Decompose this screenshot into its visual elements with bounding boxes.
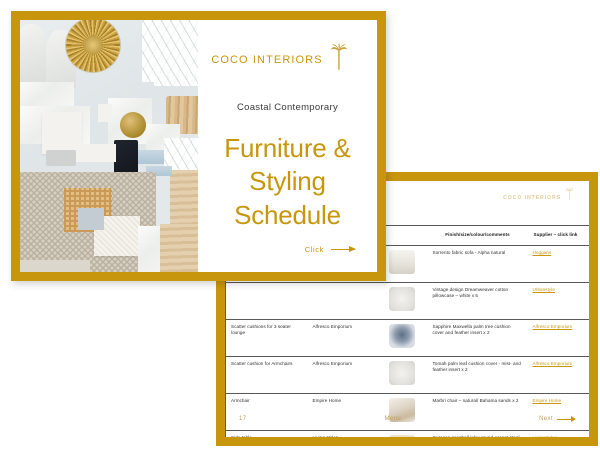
palm-tree-icon: [564, 187, 575, 202]
arrow-right-icon: [331, 249, 355, 250]
cell-finish: Sorrento fabric sofa - Alpha natural: [428, 245, 528, 282]
cell-finish: Curacao seashell inlay round accent stoo…: [428, 430, 528, 446]
cell-initial[interactable]: [584, 356, 599, 393]
title-line-2: Styling: [198, 165, 377, 198]
cell-item: Scatter cushions for 3 seater lounge: [226, 319, 308, 356]
cell-supplier: Alfresco Emporium: [308, 356, 376, 393]
supplier-link[interactable]: Hoggans: [533, 250, 552, 255]
cell-initial[interactable]: [584, 430, 599, 446]
page-number: 17: [239, 416, 246, 422]
cell-supplier: Living styles: [308, 430, 376, 446]
next-button[interactable]: Next: [539, 416, 575, 422]
moodboard-flatlay: [20, 20, 198, 272]
cell-image: [376, 319, 428, 356]
schedule-footer: 17 Menu Next: [225, 409, 589, 429]
cell-initial[interactable]: [584, 282, 599, 319]
cell-initial[interactable]: [584, 319, 599, 356]
blue-cushion-thumbnail: [389, 324, 415, 348]
palm-tree-icon: [328, 42, 350, 72]
cell-image: [376, 430, 428, 446]
cell-finish: Tomah palm leaf cushion cover - mist- an…: [428, 356, 528, 393]
click-button[interactable]: Click: [305, 245, 355, 254]
table-row[interactable]: Vintage design Dreamweaver cotton pillow…: [226, 282, 599, 319]
cell-finish: Sapphire Maxwella palm tree cushion cove…: [428, 319, 528, 356]
side-table-thumbnail: [389, 435, 415, 446]
column-header-supplier-link: Supplier – click link: [528, 226, 584, 246]
moodboard-image: [20, 20, 198, 272]
cover-text-panel: COCO INTERIORS Coastal Contemporary: [198, 20, 377, 272]
supplier-link[interactable]: Urbanstyle: [533, 287, 555, 292]
title-line-3: Schedule: [198, 199, 377, 232]
menu-button[interactable]: Menu: [246, 416, 539, 422]
cell-link[interactable]: Alfresco Emporium: [528, 356, 584, 393]
cell-item: [226, 282, 308, 319]
schedule-brand-logo: COCO INTERIORS: [503, 187, 575, 202]
page-title: Furniture & Styling Schedule: [198, 132, 377, 232]
pillowcase-thumbnail: [389, 287, 415, 311]
cell-image: [376, 356, 428, 393]
supplier-link[interactable]: Alfresco Emporium: [533, 361, 573, 366]
cover-brand-name: COCO INTERIORS: [211, 54, 322, 66]
cover-subtitle: Coastal Contemporary: [198, 102, 377, 113]
cell-supplier: Alfresco Emporium: [308, 319, 376, 356]
cell-link[interactable]: Livingstyles: [528, 430, 584, 446]
cell-supplier: [308, 282, 376, 319]
cell-item: Scatter cushion for Armchairs: [226, 356, 308, 393]
white-cushion-thumbnail: [389, 361, 415, 385]
next-label: Next: [539, 416, 553, 422]
supplier-link[interactable]: Alfresco Emporium: [533, 324, 573, 329]
title-line-1: Furniture &: [198, 132, 377, 165]
table-row[interactable]: Scatter cushion for Armchairs Alfresco E…: [226, 356, 599, 393]
cell-item: Side table: [226, 430, 308, 446]
slide-stage: COCO INTERIORS: [0, 0, 600, 452]
cell-image: [376, 282, 428, 319]
column-header-initial: Initial: [584, 226, 599, 246]
sofa-thumbnail: [389, 250, 415, 274]
cell-link[interactable]: Hoggans: [528, 245, 584, 282]
cover-brand-logo: COCO INTERIORS: [198, 42, 363, 72]
schedule-brand-name: COCO INTERIORS: [503, 195, 561, 201]
click-label: Click: [305, 245, 324, 254]
cell-initial[interactable]: [584, 245, 599, 282]
supplier-link[interactable]: Livingstyles: [533, 435, 557, 440]
cover-slide[interactable]: COCO INTERIORS Coastal Contemporary: [11, 11, 386, 281]
arrow-right-icon: [557, 419, 575, 420]
table-row[interactable]: Scatter cushions for 3 seater lounge Alf…: [226, 319, 599, 356]
cell-link[interactable]: Urbanstyle: [528, 282, 584, 319]
cell-finish: Vintage design Dreamweaver cotton pillow…: [428, 282, 528, 319]
table-row[interactable]: Side table Living styles Curacao seashel…: [226, 430, 599, 446]
column-header-finish: Finish/size/colour/comments: [428, 226, 528, 246]
supplier-link[interactable]: Empire Home: [533, 398, 562, 403]
cell-link[interactable]: Alfresco Emporium: [528, 319, 584, 356]
